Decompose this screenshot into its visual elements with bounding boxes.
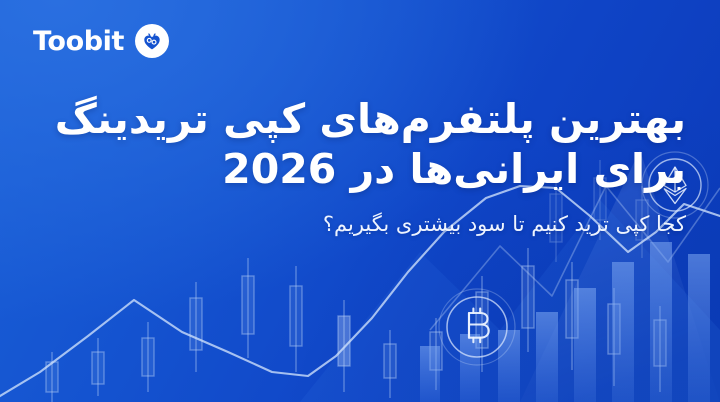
toobit-heart-icon (135, 24, 169, 58)
bitcoin-coin-icon (437, 287, 517, 371)
headline-line-2: برای ایرانی‌ها در 2026 (36, 146, 686, 194)
subheadline: کجا کپی ترید کنیم تا سود بیشتری بگیریم؟ (36, 210, 686, 238)
headline-line-1: بهترین پلتفرم‌های کپی تریدینگ (36, 96, 686, 144)
banner-copy: بهترین پلتفرم‌های کپی تریدینگ برای ایران… (36, 96, 686, 238)
toobit-wordmark: Toobit (33, 28, 124, 55)
bar-chart (420, 242, 710, 402)
promo-banner: Toobit بهترین پلتفرم‌های کپی تریدینگ برا… (0, 0, 720, 402)
toobit-logo[interactable]: Toobit (33, 24, 169, 58)
